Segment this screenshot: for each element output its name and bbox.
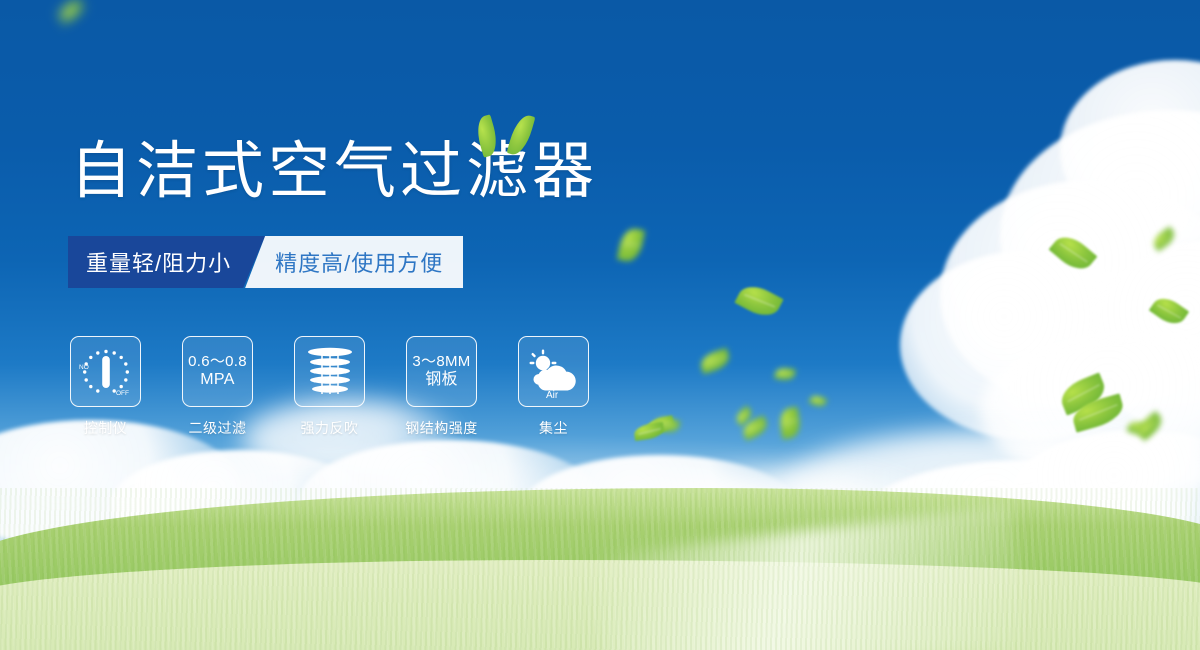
feature-icon-box — [294, 336, 365, 407]
air-label: Air — [546, 390, 559, 401]
gauge-dial-icon: NO OFF — [76, 342, 136, 402]
feature-item-backblow[interactable]: 强力反吹 — [294, 336, 365, 438]
product-hero-banner: 自洁式空气过滤器 重量轻/阻力小 精度高/使用方便 — [0, 0, 1200, 650]
feature-caption: 控制仪 — [84, 418, 128, 438]
coil-stack-icon — [304, 344, 356, 400]
feature-caption: 集尘 — [539, 418, 568, 438]
feature-item-steel-strength[interactable]: 3～8MM 钢板 钢结构强度 — [406, 336, 477, 438]
feature-caption: 二级过滤 — [189, 418, 247, 438]
feature-item-dust-collection[interactable]: Air 集尘 — [518, 336, 589, 438]
feature-caption: 强力反吹 — [301, 418, 359, 438]
subtitle-left-panel: 重量轻/阻力小 — [68, 236, 265, 288]
pressure-value-icon: 0.6～0.8 MPA — [188, 353, 247, 390]
feature-item-filtration[interactable]: 0.6～0.8 MPA 二级过滤 — [182, 336, 253, 438]
dial-label-off: OFF — [116, 390, 129, 397]
steel-plate-label: 钢板 — [412, 371, 470, 390]
dial-label-no: NO — [79, 364, 89, 371]
feature-list: NO OFF 控制仪 0.6～0.8 MPA 二级过滤 — [70, 336, 589, 438]
subtitle-right-panel: 精度高/使用方便 — [245, 236, 463, 288]
feature-icon-box: NO OFF — [70, 336, 141, 407]
steel-thickness-text: 3～8MM — [412, 353, 470, 370]
steel-plate-value-icon: 3～8MM 钢板 — [412, 353, 470, 390]
feature-caption: 钢结构强度 — [405, 418, 478, 438]
feature-icon-box: 3～8MM 钢板 — [406, 336, 477, 407]
subtitle-bar: 重量轻/阻力小 精度高/使用方便 — [68, 236, 463, 288]
feature-icon-box: Air — [518, 336, 589, 407]
feature-item-controller[interactable]: NO OFF 控制仪 — [70, 336, 141, 438]
pressure-range-text: 0.6～0.8 — [188, 353, 247, 370]
cloud-sun-air-icon: Air — [524, 342, 584, 402]
feature-icon-box: 0.6～0.8 MPA — [182, 336, 253, 407]
pressure-unit-text: MPA — [188, 371, 247, 390]
